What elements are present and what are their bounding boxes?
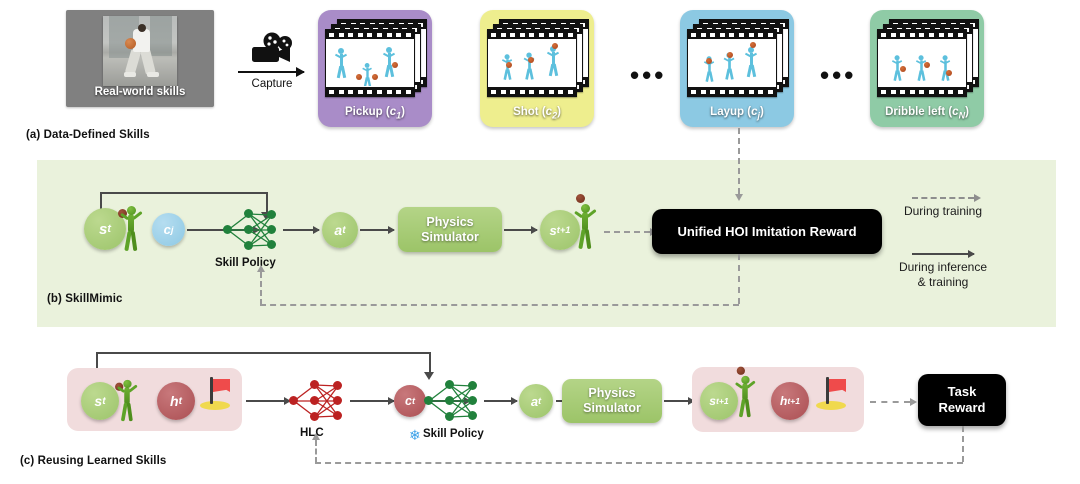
goal-flag-icon-c2: [816, 377, 846, 411]
skill-card-label: Pickup (c1): [318, 106, 432, 120]
film-stack-icon: [687, 19, 787, 97]
arrow-action-to-sim-b: [360, 229, 394, 231]
dashed-arrow-to-task-reward: [870, 401, 910, 403]
film-frame: [487, 29, 577, 97]
legend-inference-line-1: During inference: [899, 260, 987, 274]
sim-line-1-c: Physics: [588, 386, 635, 400]
arrow-sim-to-state-c: [664, 400, 694, 402]
film-stack-icon: [487, 19, 587, 97]
arrow-state-to-hlc: [246, 400, 290, 402]
next-state-symbol-c: s: [709, 394, 716, 408]
state-circle-st-c: st: [81, 382, 119, 420]
skill-card-label: Shot (c2): [480, 106, 594, 120]
legend-dashed-arrow-icon: [912, 197, 974, 199]
action-circle-at-b: at: [322, 212, 358, 248]
skill-code-circle-ct: ct: [394, 385, 426, 417]
task-reward-up-to-hlc: [315, 440, 317, 463]
reward-back-line-b: [260, 304, 739, 306]
task-reward-box: TaskReward: [918, 374, 1006, 426]
capture-label: Capture: [236, 78, 308, 90]
basketball-icon: [125, 38, 136, 49]
legend-training-text: During training: [868, 204, 1018, 219]
next-state-subscript-c: t+1: [716, 396, 729, 406]
goal-subscript-c: t: [179, 396, 182, 407]
skill-card-dribble-left[interactable]: Dribble left (cN): [870, 10, 984, 127]
state-subscript-c: t: [102, 396, 105, 407]
task-reward-down-line: [962, 426, 964, 462]
next-goal-circle-c: ht+1: [771, 382, 809, 420]
next-state-subscript: t+1: [557, 225, 571, 235]
photo-person-head: [138, 24, 146, 32]
physics-simulator-box-c: PhysicsSimulator: [562, 379, 662, 423]
film-frame: [877, 29, 967, 97]
arrow-hlc-to-code: [350, 400, 394, 402]
panel-data-defined-skills: Real-world skills Capture: [0, 0, 1080, 150]
snowflake-icon: ❄: [409, 428, 421, 442]
legend-solid-arrow-icon: [912, 253, 974, 255]
photo-thumbnail: [103, 16, 177, 86]
action-circle-at-c: at: [519, 384, 553, 418]
task-reward-line-2: Reward: [939, 400, 986, 415]
reward-down-line-b: [738, 254, 740, 304]
action-symbol: a: [334, 222, 342, 238]
photo-caption: Real-world skills: [66, 86, 214, 98]
film-frame: [687, 29, 777, 97]
goal-circle-ht-c: ht: [157, 382, 195, 420]
next-goal-subscript-c: t+1: [787, 396, 800, 406]
skill-code-subscript-c: t: [412, 396, 415, 406]
humanoid-character-b1: [118, 200, 144, 258]
skill-code-subscript: j: [171, 225, 174, 235]
state-symbol: s: [99, 221, 107, 238]
arrow-policy-to-action-b: [283, 229, 319, 231]
humanoid-character-c2: [733, 370, 757, 423]
panel-c-label: (c) Reusing Learned Skills: [20, 455, 166, 467]
skill-code-symbol: c: [164, 222, 171, 237]
state-symbol-c: s: [94, 393, 102, 409]
legend-inference-text: During inference & training: [868, 260, 1018, 290]
sim-line-2: Simulator: [421, 230, 479, 244]
ellipsis-2: •••: [820, 62, 856, 88]
video-camera-icon: [244, 32, 298, 66]
state-feedback-line-top-c: [96, 352, 430, 354]
legend-inference-line-2: & training: [918, 275, 969, 289]
skill-policy-network-b: [222, 206, 280, 254]
action-subscript: t: [342, 225, 345, 236]
skill-policy-label-b: Skill Policy: [215, 257, 276, 269]
photo-background-door2-icon: [150, 16, 172, 56]
photo-person-shoe-right: [147, 72, 159, 77]
skill-policy-network-c: [423, 377, 481, 425]
humanoid-character-b2: [572, 198, 598, 256]
state-feedback-line-right-c: [429, 352, 431, 374]
capture-arrow-icon: [238, 71, 304, 73]
skill-card-layup[interactable]: Layup (cj): [680, 10, 794, 127]
capture-group: Capture: [236, 30, 308, 102]
ellipsis-1: •••: [630, 62, 666, 88]
task-reward-back-line: [315, 462, 963, 464]
skill-card-shot[interactable]: Shot (c2): [480, 10, 594, 127]
action-subscript-c: t: [538, 396, 541, 406]
film-stack-icon: [325, 19, 425, 97]
skill-card-label: Layup (cj): [680, 106, 794, 120]
task-reward-line-1: Task: [948, 384, 977, 399]
arrow-policy-to-action-c: [484, 400, 517, 402]
photo-person-shoe-left: [124, 72, 136, 77]
arrow-sim-to-state-b: [504, 229, 537, 231]
film-frame: [325, 29, 415, 97]
skill-card-label: Dribble left (cN): [870, 106, 984, 120]
hlc-network: [288, 377, 346, 425]
reward-up-to-policy-b: [260, 272, 262, 305]
skill-card-pickup[interactable]: Pickup (c1): [318, 10, 432, 127]
skill-code-circle-cj: cj: [152, 213, 185, 246]
skill-to-reward-connector: [738, 128, 740, 194]
next-goal-symbol-c: h: [780, 394, 787, 408]
sim-line-1: Physics: [426, 215, 473, 229]
dashed-arrow-to-reward-b: [604, 231, 650, 233]
next-state-symbol: s: [550, 223, 557, 238]
state-subscript: t: [107, 223, 111, 235]
reward-box-label: Unified HOI Imitation Reward: [677, 224, 856, 239]
state-feedback-line-top: [100, 192, 267, 194]
sim-line-2-c: Simulator: [583, 401, 641, 415]
goal-symbol-c: h: [170, 393, 179, 409]
goal-flag-icon-c1: [200, 377, 230, 411]
humanoid-character-c1: [115, 374, 139, 427]
panel-b-label: (b) SkillMimic: [47, 293, 123, 305]
skill-code-symbol-c: c: [405, 394, 412, 408]
physics-simulator-box-b: PhysicsSimulator: [398, 207, 502, 252]
real-world-skills-photo: Real-world skills: [66, 10, 214, 107]
film-stack-icon: [877, 19, 977, 97]
unified-hoi-imitation-reward-box: Unified HOI Imitation Reward: [652, 209, 882, 254]
action-symbol-c: a: [531, 394, 538, 409]
skill-policy-label-c: Skill Policy: [423, 428, 484, 440]
panel-a-label: (a) Data-Defined Skills: [26, 129, 150, 141]
